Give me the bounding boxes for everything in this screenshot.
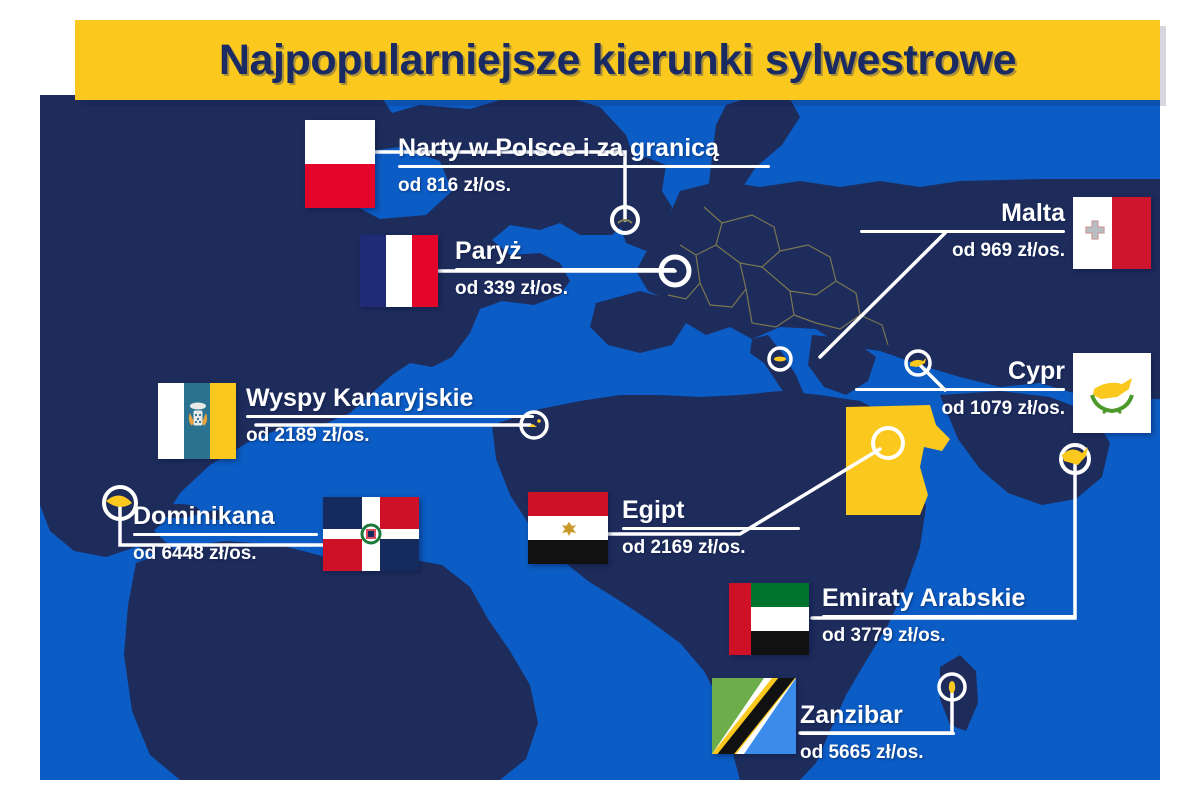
callout-zanzibar: Zanzibar od 5665 zł/os. (800, 702, 955, 763)
callout-dominikana: Dominikana od 6448 zł/os. (133, 503, 318, 564)
cyprus-flag (1073, 353, 1151, 433)
poland-flag-white-band (305, 120, 375, 164)
dominican-republic-flag (323, 497, 419, 571)
uae-flag-black-band (751, 631, 809, 655)
uae-flag-white-band (751, 607, 809, 631)
egypt-flag (528, 492, 608, 564)
france-flag-blue-band (360, 235, 386, 307)
egypt-flag-black-band (528, 540, 608, 564)
callout-kanary: Wyspy Kanaryjskie od 2189 zł/os. (246, 385, 534, 446)
tanzania-flag (712, 678, 796, 754)
callout-zanzibar-name: Zanzibar (800, 702, 955, 728)
uae-flag-red-band (729, 583, 751, 655)
uae-flag (729, 583, 809, 655)
dr-flag-quadrant-top-right (380, 497, 419, 529)
page-title: Najpopularniejsze kierunki sylwestrowe (219, 36, 1016, 85)
cyprus-flag-island-emblem (1084, 375, 1140, 415)
callout-cypr: Cypr od 1079 zł/os. (855, 358, 1065, 419)
callout-narty-name: Narty w Polsce i za granicą (398, 135, 770, 161)
callout-paryz: Paryż od 969 zł/os. od 339 zł/os. (455, 238, 675, 299)
infographic-root: Najpopularniejsze kierunki sylwestrowe (0, 0, 1200, 800)
callout-egipt: Egipt od 2169 zł/os. (622, 497, 800, 558)
canary-islands-flag (158, 383, 236, 459)
callout-egipt-price: od 2169 zł/os. (622, 530, 800, 558)
callout-malta-price: od 969 zł/os. (860, 233, 1065, 261)
france-flag-white-band (386, 235, 412, 307)
callout-egipt-name: Egipt (622, 497, 800, 523)
callout-malta-name: Malta (860, 200, 1065, 226)
callout-cypr-price: od 1079 zł/os. (855, 391, 1065, 419)
callout-kanary-name: Wyspy Kanaryjskie (246, 385, 534, 411)
callout-kanary-price: od 2189 zł/os. (246, 418, 534, 446)
callout-paryz-price-value: od 339 zł/os. (455, 271, 675, 299)
malta-flag (1073, 197, 1151, 269)
france-flag (360, 235, 438, 307)
callout-narty: Narty w Polsce i za granicą od 816 zł/os… (398, 135, 770, 196)
callout-emiraty-price: od 3779 zł/os. (822, 618, 1074, 646)
callout-emiraty-name: Emiraty Arabskie (822, 585, 1074, 611)
egypt-flag-eagle-emblem (560, 520, 578, 538)
callout-paryz-name: Paryż (455, 238, 675, 264)
dr-flag-quadrant-bottom-left (323, 539, 362, 571)
callout-emiraty: Emiraty Arabskie od 3779 zł/os. (822, 585, 1074, 646)
poland-flag (305, 120, 375, 208)
poland-flag-red-band (305, 164, 375, 208)
malta-flag-george-cross (1083, 219, 1107, 245)
canary-flag-coat-of-arms (186, 401, 210, 441)
dr-flag-coat-of-arms (360, 523, 382, 545)
title-banner: Najpopularniejsze kierunki sylwestrowe (75, 20, 1160, 100)
uae-flag-green-band (751, 583, 809, 607)
malta-flag-red-band (1112, 197, 1151, 269)
callout-dominikana-name: Dominikana (133, 503, 318, 529)
tanzania-flag-art (712, 678, 796, 754)
egypt-flag-red-band (528, 492, 608, 516)
france-flag-red-band (412, 235, 438, 307)
dr-flag-quadrant-bottom-right (380, 539, 419, 571)
canary-flag-yellow-band (210, 383, 236, 459)
callout-narty-price: od 816 zł/os. (398, 168, 770, 196)
callout-cypr-name: Cypr (855, 358, 1065, 384)
callout-malta: Malta od 969 zł/os. (860, 200, 1065, 261)
dr-flag-quadrant-top-left (323, 497, 362, 529)
callout-zanzibar-price: od 5665 zł/os. (800, 735, 955, 763)
callout-dominikana-price: od 6448 zł/os. (133, 536, 318, 564)
canary-flag-white-band (158, 383, 184, 459)
